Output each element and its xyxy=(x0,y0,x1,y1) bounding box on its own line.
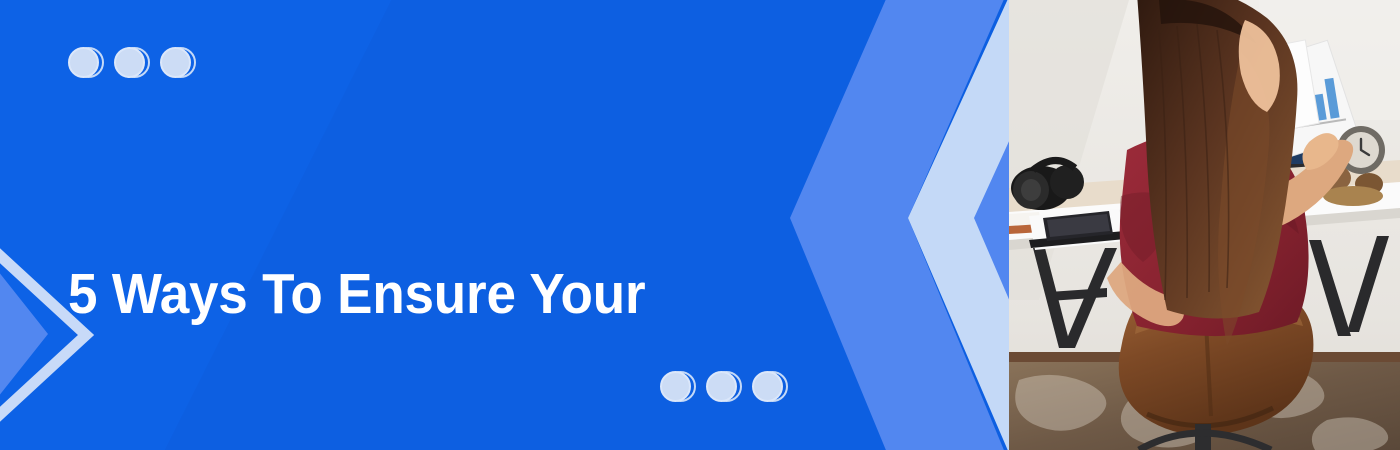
bottom-center-dots xyxy=(660,368,788,404)
dot-fill-icon xyxy=(114,47,145,78)
decorative-dot xyxy=(114,44,150,80)
hero-banner: 5 Ways To Ensure Your Staff Stay Product… xyxy=(0,0,1400,450)
decorative-dot xyxy=(660,368,696,404)
dot-fill-icon xyxy=(160,47,191,78)
dot-fill-icon xyxy=(752,371,783,402)
hero-photo xyxy=(1009,0,1400,450)
headline-line-1: 5 Ways To Ensure Your xyxy=(68,259,775,329)
decorative-dot xyxy=(68,44,104,80)
dot-fill-icon xyxy=(660,371,691,402)
top-left-dots xyxy=(68,44,196,80)
decorative-dot xyxy=(706,368,742,404)
dot-fill-icon xyxy=(706,371,737,402)
dot-fill-icon xyxy=(68,47,99,78)
decorative-dot xyxy=(160,44,196,80)
decorative-dot xyxy=(752,368,788,404)
